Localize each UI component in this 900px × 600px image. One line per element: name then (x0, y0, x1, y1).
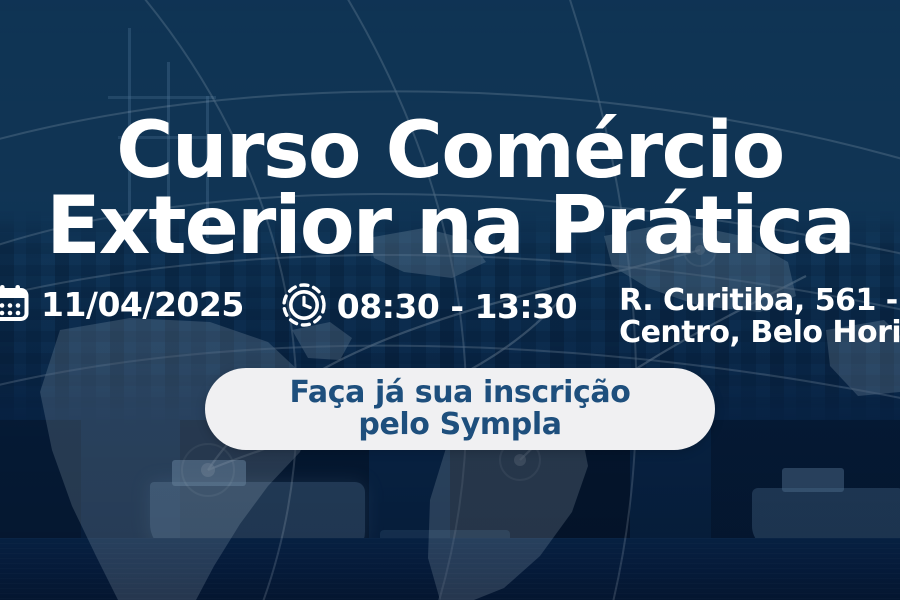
cta-line-2: pelo Sympla (358, 409, 561, 441)
title-line-2: Exterior na Prática (0, 188, 900, 264)
calendar-icon (0, 283, 30, 323)
event-date: 11/04/2025 (0, 283, 244, 323)
event-address: R. Curitiba, 561 - Centro, Belo Horiz (619, 283, 900, 349)
address-line-1: R. Curitiba, 561 - (619, 283, 898, 318)
event-promo-banner: Curso Comércio Exterior na Prática (0, 0, 900, 600)
address-line-2: Centro, Belo Horiz (619, 317, 900, 349)
event-info-row: 11/04/2025 08:30 - 13:30 R. Curitiba, 56… (0, 283, 900, 355)
banner-title: Curso Comércio Exterior na Prática (0, 114, 900, 264)
event-time: 08:30 - 13:30 (282, 283, 577, 327)
signup-sympla-button[interactable]: Faça já sua inscrição pelo Sympla (205, 368, 715, 450)
event-address-text: R. Curitiba, 561 - Centro, Belo Horiz (619, 283, 900, 349)
cta-line-1: Faça já sua inscrição (290, 377, 631, 409)
banner-content: Curso Comércio Exterior na Prática (0, 0, 900, 600)
clock-icon (282, 283, 326, 327)
event-date-text: 11/04/2025 (41, 284, 244, 322)
event-time-text: 08:30 - 13:30 (337, 286, 577, 324)
